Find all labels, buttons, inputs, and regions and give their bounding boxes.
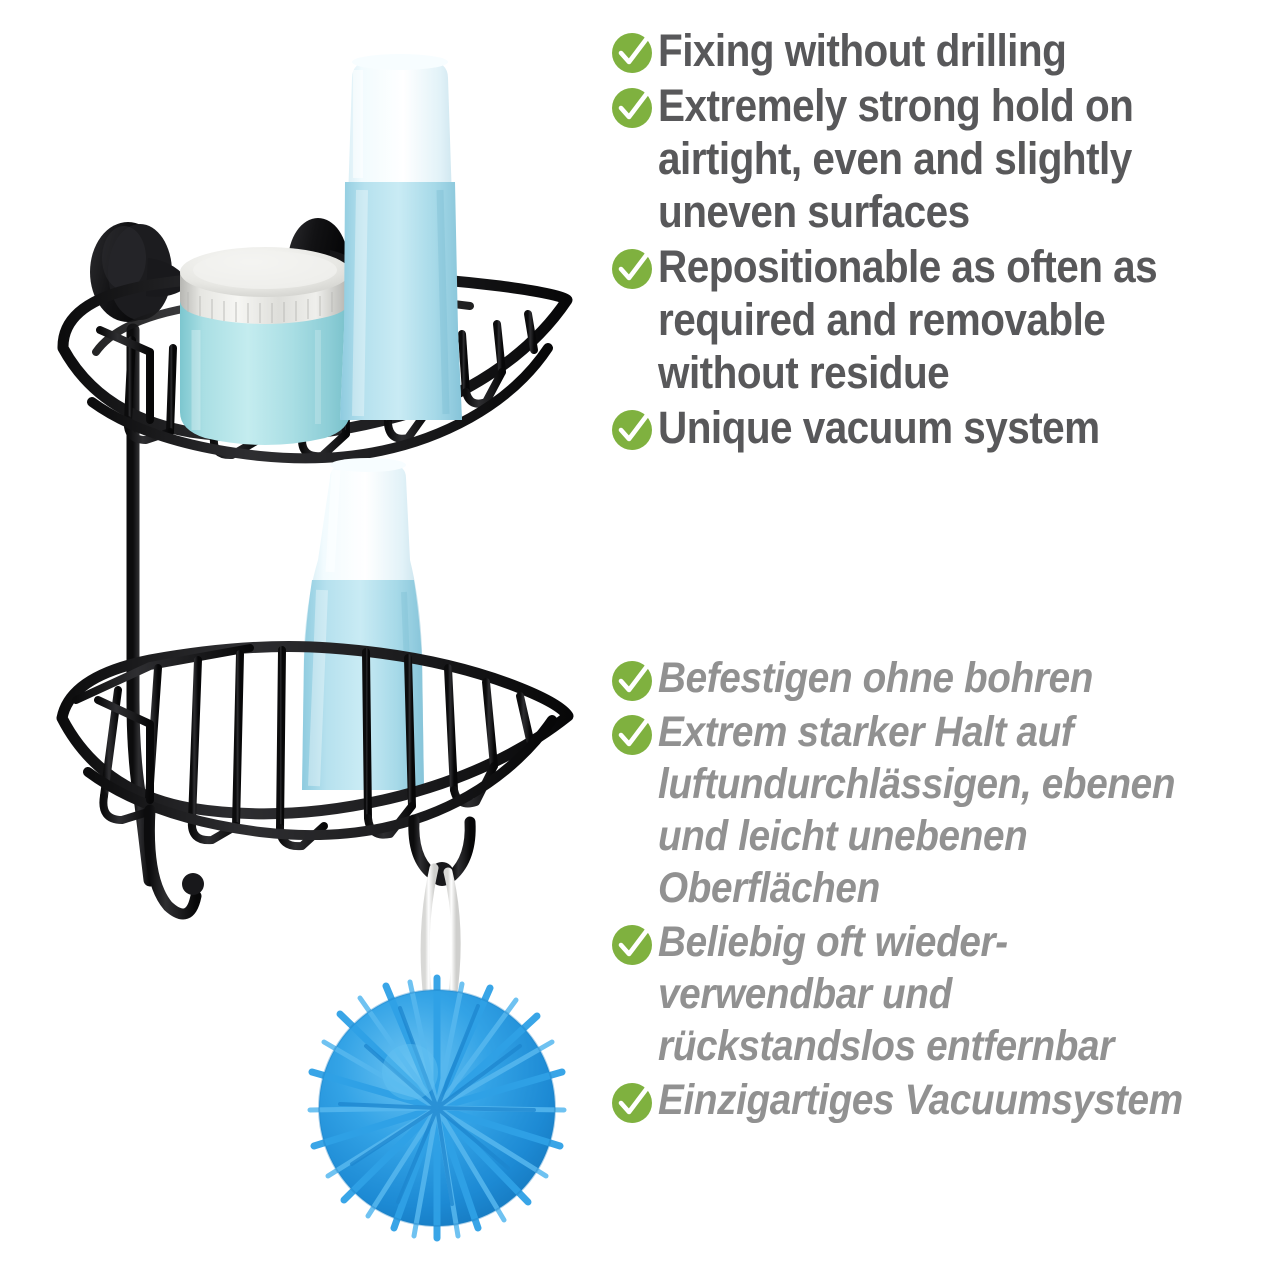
sponge-hanging-cord: [425, 868, 456, 1000]
feature-item: Einzigartiges Vacuumsystem: [600, 1074, 1280, 1126]
check-circle-icon: [600, 1074, 658, 1125]
feature-item: Repositionable as often as required and …: [600, 240, 1280, 399]
check-circle-icon: [600, 401, 658, 452]
feature-item: Unique vacuum system: [600, 401, 1280, 454]
product-feature-infographic: Fixing without drilling Extremely strong…: [0, 0, 1280, 1280]
feature-item: Fixing without drilling: [600, 24, 1280, 77]
feature-item: Extrem starker Halt auf luftundurchlässi…: [600, 706, 1280, 914]
hook-left-ball-tip: [182, 873, 204, 895]
check-circle-icon: [600, 24, 658, 75]
feature-item: Extremely strong hold on airtight, even …: [600, 79, 1280, 238]
check-circle-icon: [600, 240, 658, 291]
feature-item: Befestigen ohne bohren: [600, 652, 1280, 704]
feature-item: Beliebig oft wieder-verwendbar und rücks…: [600, 916, 1280, 1072]
white-capped-blue-shampoo-bottle-upper: [340, 54, 462, 420]
feature-text: Extrem starker Halt auf luftundurchlässi…: [658, 706, 1218, 914]
feature-text: Extremely strong hold on airtight, even …: [658, 79, 1218, 238]
feature-panel: Fixing without drilling Extremely strong…: [600, 0, 1280, 1280]
feature-text: Fixing without drilling: [658, 24, 1218, 77]
feature-text: Beliebig oft wieder-verwendbar und rücks…: [658, 916, 1218, 1072]
feature-text: Unique vacuum system: [658, 401, 1218, 454]
feature-text: Einzigartiges Vacuumsystem: [658, 1074, 1218, 1126]
feature-text: Repositionable as often as required and …: [658, 240, 1218, 399]
check-circle-icon: [600, 79, 658, 130]
blue-silicone-bristle-sponge-ball: [310, 978, 564, 1238]
check-circle-icon: [600, 706, 658, 757]
feature-list-german: Befestigen ohne bohren Extrem starker Ha…: [600, 652, 1280, 1128]
product-photo: [0, 0, 600, 1280]
check-circle-icon: [600, 652, 658, 703]
aqua-cream-jar-with-silver-screw-lid: [180, 247, 350, 445]
feature-list-english: Fixing without drilling Extremely strong…: [600, 24, 1280, 456]
check-circle-icon: [600, 916, 658, 967]
feature-text: Befestigen ohne bohren: [658, 652, 1218, 704]
